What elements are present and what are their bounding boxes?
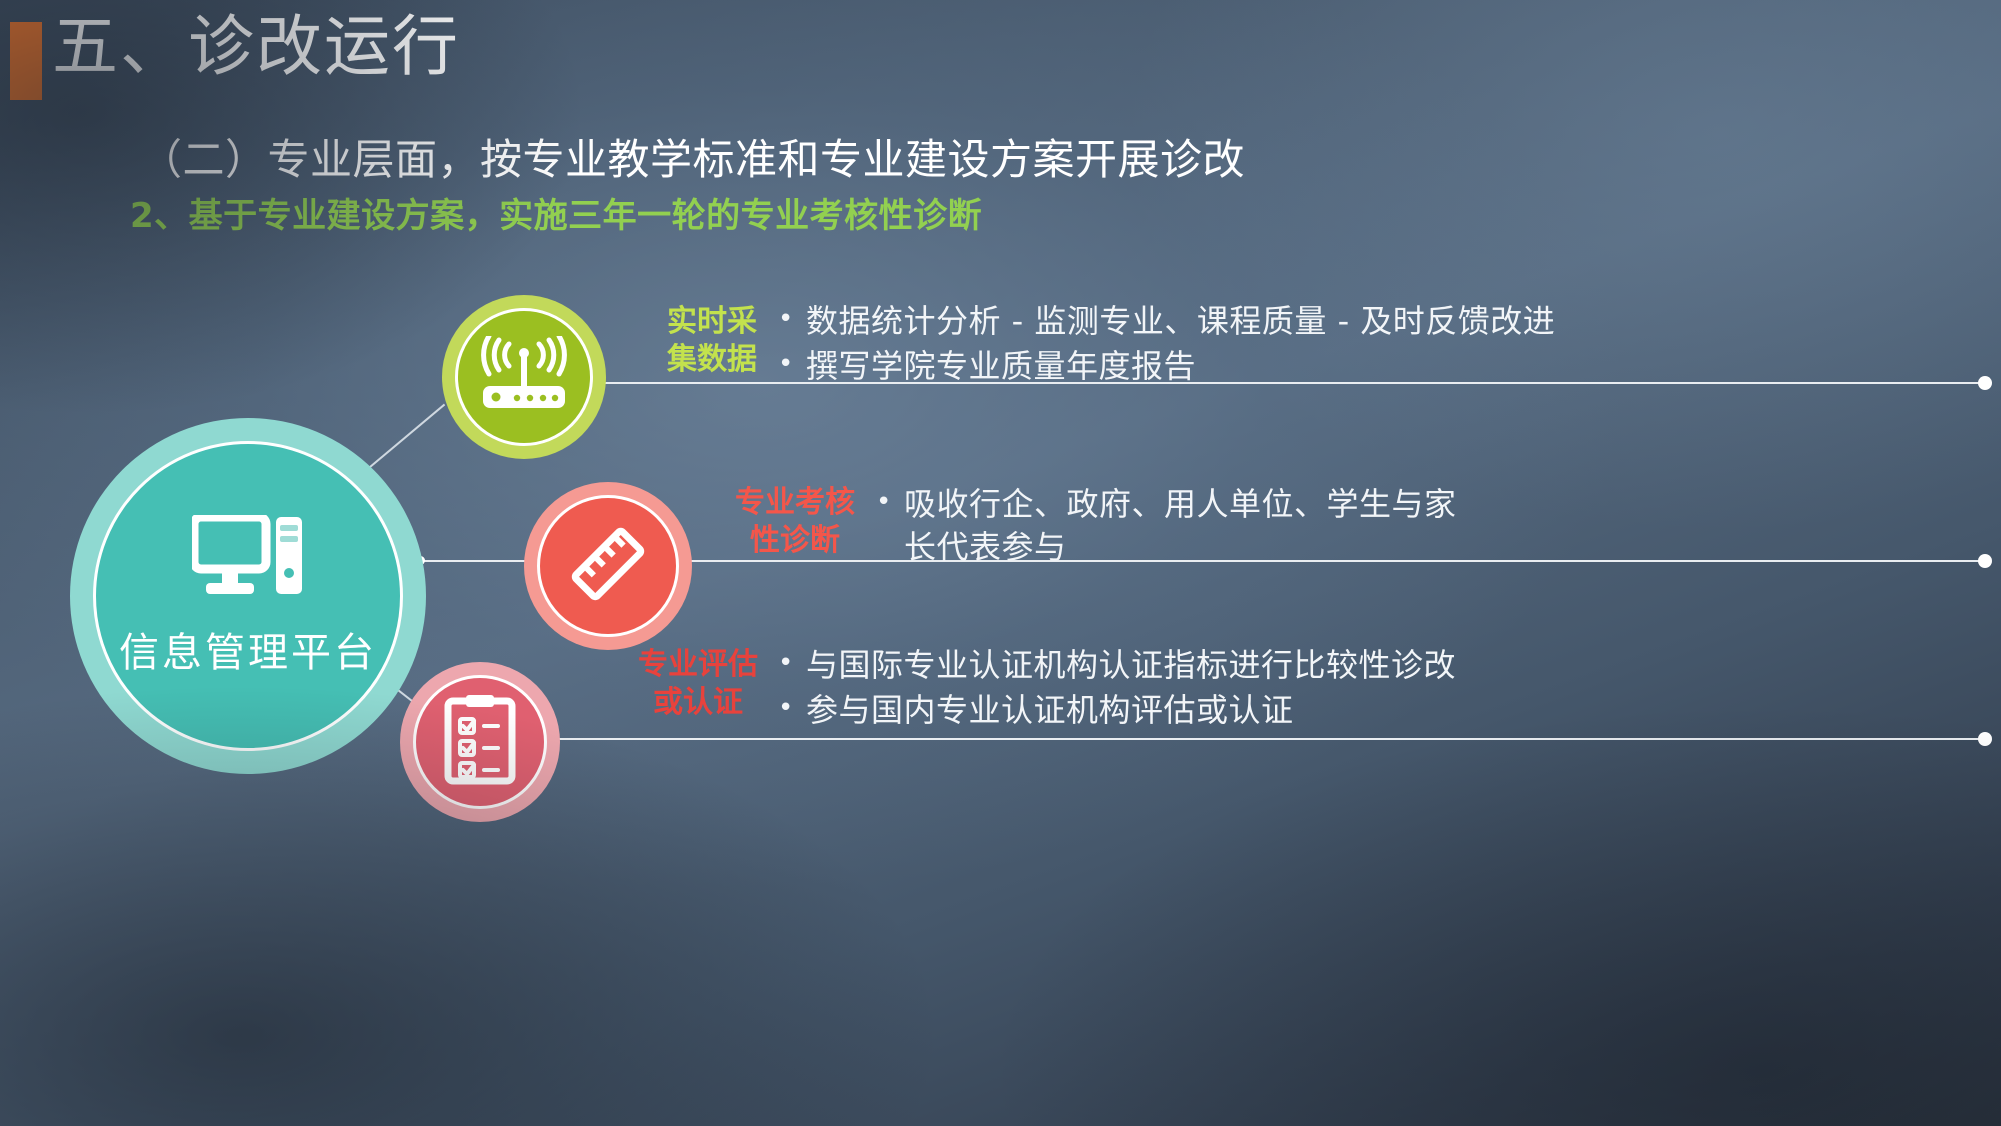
branch-node-professional-assessment[interactable] <box>524 482 692 650</box>
bullet-dot-icon: • <box>778 644 806 682</box>
branch-label-professional-assessment: 专业考核 性诊断 <box>700 484 890 561</box>
bullet-dot-icon: • <box>778 689 806 727</box>
rail-evaluation <box>556 738 1980 740</box>
branch-label-evaluation-certification: 专业评估 或认证 <box>608 646 788 723</box>
branch-label-realtime-data: 实时采 集数据 <box>634 303 790 380</box>
hub-label: 信息管理平台 <box>119 620 377 678</box>
bullet-dot-icon: • <box>876 483 904 521</box>
slide-canvas: 五、诊改运行 （二）专业层面，按专业教学标准和专业建设方案开展诊改 2、基于专业… <box>0 0 2001 1126</box>
ruler-icon <box>561 517 655 616</box>
list-item: • 参与国内专业认证机构评估或认证 <box>778 689 1958 732</box>
branch-node-assessment-inner <box>537 495 679 637</box>
title-accent-bar <box>10 22 42 100</box>
slide-subtitle-secondary: 2、基于专业建设方案，实施三年一轮的专业考核性诊断 <box>130 188 982 237</box>
hub-node-information-platform[interactable]: 信息管理平台 <box>70 418 426 774</box>
bullet-text: 参与国内专业认证机构评估或认证 <box>806 689 1294 732</box>
branch-bullets-evaluation-certification: • 与国际专业认证机构认证指标进行比较性诊改 • 参与国内专业认证机构评估或认证 <box>778 644 1958 734</box>
desktop-computer-icon <box>192 515 304 602</box>
list-item: • 吸收行企、政府、用人单位、学生与家 长代表参与 <box>876 483 1956 569</box>
branch-bullets-realtime-data: • 数据统计分析 - 监测专业、课程质量 - 及时反馈改进 • 撰写学院专业质量… <box>778 300 1988 390</box>
branch-node-evaluation-certification[interactable] <box>400 662 560 822</box>
bullet-dot-icon: • <box>778 300 806 338</box>
rail-end-dot-evaluation <box>1978 732 1992 746</box>
list-item: • 与国际专业认证机构认证指标进行比较性诊改 <box>778 644 1958 687</box>
slide-subtitle: （二）专业层面，按专业教学标准和专业建设方案开展诊改 <box>140 126 1245 187</box>
list-item: • 撰写学院专业质量年度报告 <box>778 345 1988 388</box>
rail-end-dot-assessment <box>1978 554 1992 568</box>
checklist-clipboard-icon <box>444 695 516 790</box>
branch-node-realtime-inner <box>455 308 593 446</box>
page-title: 五、诊改运行 <box>52 14 460 80</box>
branch-node-realtime-data[interactable] <box>442 295 606 459</box>
wifi-router-icon <box>479 336 569 419</box>
bullet-text: 吸收行企、政府、用人单位、学生与家 长代表参与 <box>904 483 1457 569</box>
hub-inner-circle: 信息管理平台 <box>93 441 403 751</box>
bullet-text: 数据统计分析 - 监测专业、课程质量 - 及时反馈改进 <box>806 300 1555 343</box>
bullet-text: 与国际专业认证机构认证指标进行比较性诊改 <box>806 644 1456 687</box>
branch-node-evaluation-inner <box>413 675 547 809</box>
list-item: • 数据统计分析 - 监测专业、课程质量 - 及时反馈改进 <box>778 300 1988 343</box>
bullet-text: 撰写学院专业质量年度报告 <box>806 345 1196 388</box>
branch-bullets-professional-assessment: • 吸收行企、政府、用人单位、学生与家 长代表参与 <box>876 483 1956 571</box>
bullet-dot-icon: • <box>778 345 806 383</box>
